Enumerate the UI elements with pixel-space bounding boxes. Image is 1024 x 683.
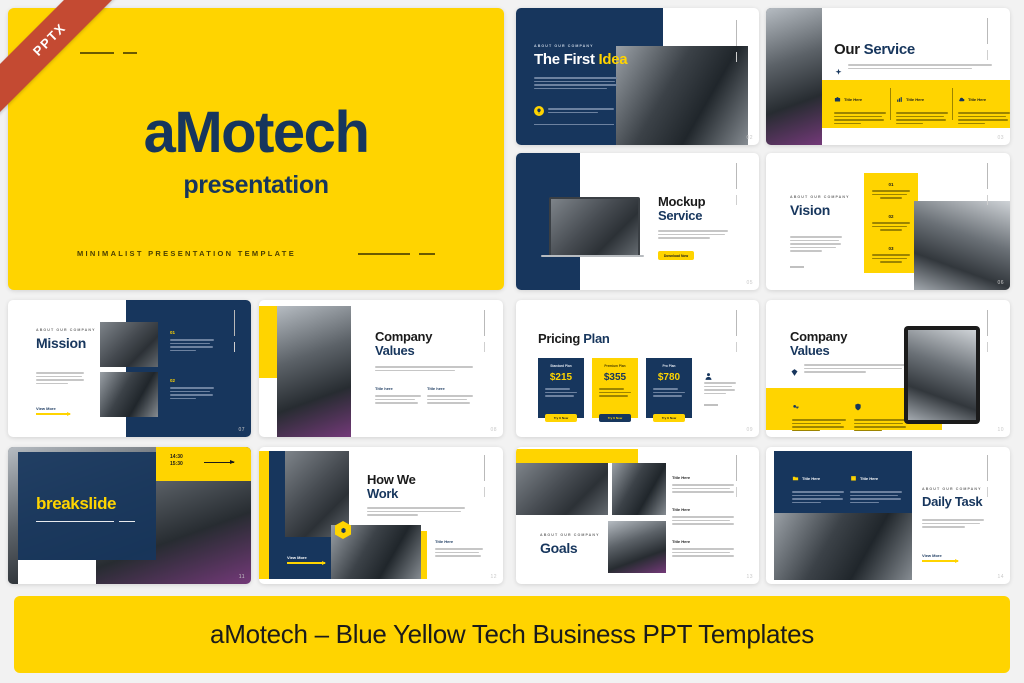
- view-more-label: View More: [922, 553, 958, 558]
- values2-intro-text: [804, 364, 908, 373]
- view-more-label: View More: [287, 555, 325, 560]
- page-number: 07: [238, 427, 245, 433]
- values1-title: Company Values: [375, 330, 432, 358]
- plan-cta-button[interactable]: Try It Now: [545, 414, 577, 422]
- values1-body-text: [375, 366, 473, 371]
- mission-item-2: 02: [170, 378, 214, 399]
- plan-name: Standard Plan: [538, 364, 584, 368]
- page-number: 10: [997, 427, 1004, 433]
- decor-vline: [736, 310, 737, 336]
- page-number: 13: [746, 574, 753, 580]
- first-idea-photo: [616, 46, 748, 145]
- dash-long: [358, 253, 410, 255]
- mission-item-1: 01: [170, 330, 214, 351]
- decor-vline: [987, 310, 988, 336]
- lightbulb-icon: [534, 106, 544, 116]
- plan-price: $355: [592, 372, 638, 383]
- page-number: 14: [997, 574, 1004, 580]
- dash-short: [123, 52, 137, 54]
- daily-photo: [774, 513, 912, 580]
- hww-title: How We Work: [367, 473, 416, 501]
- slide-company-values-2[interactable]: Company Values: [766, 300, 1010, 437]
- page-number: 08: [490, 427, 497, 433]
- slide-how-we-work[interactable]: How We Work Title Here View More 12: [259, 447, 503, 584]
- breakslide-white-block: [18, 560, 96, 584]
- title-plain: Our: [834, 41, 864, 58]
- title-line-2: Values: [790, 344, 847, 358]
- decor-vline-short: [234, 342, 235, 352]
- title-line-1: Company: [790, 330, 847, 344]
- decor-vline: [987, 163, 988, 189]
- values1-column-2: Title here: [427, 386, 473, 404]
- item-label: Title Here: [672, 475, 734, 480]
- vision-numbered-card: 01 02 03: [864, 173, 918, 273]
- cloud-icon: [958, 90, 965, 108]
- service-column-label: Title Here: [844, 97, 862, 102]
- decor-vline-short: [987, 50, 988, 60]
- values1-photo: [277, 306, 351, 437]
- hero-dash-decoration: [80, 52, 137, 54]
- plan-cta-button[interactable]: Try It Now: [599, 414, 631, 422]
- key-icon: [792, 398, 800, 415]
- hww-yellow-edge: [259, 451, 269, 579]
- goals-item-2: Title Here: [672, 507, 734, 525]
- slide-company-values-1[interactable]: Company Values Title here Title here 08: [259, 300, 503, 437]
- service-column-1: Title Here: [834, 90, 886, 124]
- values1-column-1: Title here: [375, 386, 421, 404]
- title-line-1: Company: [375, 330, 432, 344]
- decor-vline: [987, 455, 988, 481]
- slide-goals[interactable]: ABOUT OUR COMPANY Goals Title Here Title…: [516, 447, 759, 584]
- vision-eyebrow: ABOUT OUR COMPANY: [790, 195, 850, 199]
- decor-vline-short: [484, 487, 485, 497]
- breakslide-time-band: 14:30 15:30: [156, 447, 251, 481]
- hero-tagline: MINIMALIST PRESENTATION TEMPLATE: [77, 249, 296, 258]
- page-number: 03: [997, 135, 1004, 141]
- decor-vline-short: [736, 52, 737, 62]
- daily-title: Daily Task: [922, 495, 982, 509]
- plan-name: Pro Plan: [646, 364, 692, 368]
- card-label: Title Here: [802, 476, 820, 481]
- pricing-card-standard[interactable]: Standard Plan $215 Try It Now: [538, 358, 584, 418]
- page-number: 12: [490, 574, 497, 580]
- briefcase-icon: [834, 90, 841, 108]
- our-service-photo: [766, 8, 822, 145]
- break-arrow-icon: [204, 462, 234, 463]
- pricing-card-premium[interactable]: Premium Plan $355 Try It Now: [592, 358, 638, 418]
- values2-tablet-frame: [904, 326, 980, 424]
- shield-icon: [854, 398, 862, 415]
- hww-view-more-link[interactable]: View More: [287, 555, 325, 564]
- mockup-arrow: [540, 271, 572, 273]
- decor-vline: [484, 455, 485, 481]
- service-column-label: Title Here: [968, 97, 986, 102]
- mission-view-more-link[interactable]: View More: [36, 406, 70, 415]
- title-line-1: How We: [367, 473, 416, 487]
- mockup-laptop-base: [541, 255, 644, 257]
- title-line-2: Service: [658, 209, 705, 223]
- values2-item-2: [854, 398, 908, 431]
- template-preview-page: aMotech presentation MINIMALIST PRESENTA…: [0, 0, 1024, 683]
- title-line-1: Mockup: [658, 195, 705, 209]
- download-now-button[interactable]: Download Now: [658, 251, 694, 260]
- slide-first-idea[interactable]: ABOUT OUR COMPANY The First Idea 02: [516, 8, 759, 145]
- service-column-3: Title Here: [958, 90, 1010, 124]
- mission-body-text: [36, 372, 84, 384]
- decor-vline-short: [987, 342, 988, 352]
- hero-tagline-dashes: [358, 253, 435, 255]
- page-number: 11: [239, 574, 245, 580]
- goals-title: Goals: [540, 541, 577, 556]
- title-accent: Service: [864, 41, 915, 58]
- hww-body-text: [367, 507, 465, 516]
- values2-title: Company Values: [790, 330, 847, 358]
- title-accent: Idea: [599, 51, 628, 68]
- slide-our-service[interactable]: Our Service Title Here T: [766, 8, 1010, 145]
- goals-eyebrow: ABOUT OUR COMPANY: [540, 533, 600, 537]
- title-accent: Plan: [583, 331, 609, 346]
- slide-mission[interactable]: ABOUT OUR COMPANY Mission View More 01 0…: [8, 300, 251, 437]
- vision-item-1: 01: [864, 182, 918, 199]
- item-number: 01: [170, 330, 214, 335]
- daily-eyebrow: ABOUT OUR COMPANY: [922, 487, 982, 491]
- card-label: Title Here: [860, 476, 878, 481]
- vision-item-2: 02: [864, 214, 918, 231]
- chart-icon: [896, 90, 903, 108]
- slide-pricing-plan[interactable]: Pricing Plan Standard Plan $215 Try It N…: [516, 300, 759, 437]
- breakslide-title: breakslide: [36, 494, 116, 514]
- mockup-title: Mockup Service: [658, 195, 705, 223]
- page-number: 06: [997, 280, 1004, 286]
- decor-vline-short: [736, 487, 737, 497]
- slide-daily-task[interactable]: Title Here Title Here ABOUT OUR COMPANY …: [766, 447, 1010, 584]
- our-service-feature-band: Title Here Title Here: [822, 80, 1010, 128]
- goals-photo-2: [612, 463, 666, 515]
- page-number: 09: [746, 427, 753, 433]
- decor-vline-short: [736, 195, 737, 205]
- item-number: 02: [864, 214, 918, 219]
- break-time-start: 14:30: [170, 454, 183, 461]
- vision-rule: [790, 266, 804, 268]
- product-title-banner: aMotech – Blue Yellow Tech Business PPT …: [14, 596, 1010, 673]
- decor-vline-short: [484, 342, 485, 352]
- service-column-label: Title Here: [906, 97, 924, 102]
- mission-photo-2: [100, 372, 158, 417]
- mission-title: Mission: [36, 336, 86, 351]
- our-service-intro-text: [848, 64, 992, 69]
- mission-eyebrow: ABOUT OUR COMPANY: [36, 328, 96, 332]
- first-idea-eyebrow: ABOUT OUR COMPANY: [534, 44, 594, 48]
- decor-vline-short: [987, 487, 988, 497]
- pricing-side-text: [704, 382, 736, 394]
- folder-icon: [792, 469, 799, 487]
- item-label: Title Here: [672, 507, 734, 512]
- values2-item-1: [792, 398, 846, 431]
- first-idea-title: The First Idea: [534, 52, 627, 68]
- decor-vline: [987, 18, 988, 44]
- hero-brand-title: aMotech: [8, 104, 504, 162]
- item-label: Title Here: [672, 539, 734, 544]
- pricing-rule: [704, 404, 718, 406]
- daily-body-text: [922, 519, 984, 528]
- slide-title-hero[interactable]: aMotech presentation MINIMALIST PRESENTA…: [8, 8, 504, 290]
- decor-vline: [736, 20, 737, 46]
- hero-subtitle: presentation: [8, 171, 504, 200]
- mockup-laptop-photo: [549, 197, 640, 257]
- vision-item-3: 03: [864, 246, 918, 263]
- hero-tagline-row: MINIMALIST PRESENTATION TEMPLATE: [8, 249, 504, 258]
- decor-vline: [234, 310, 235, 336]
- slide-vision[interactable]: ABOUT OUR COMPANY Vision 01 02 03: [766, 153, 1010, 290]
- values2-photo: [908, 330, 976, 420]
- page-number: 05: [746, 280, 753, 286]
- breakslide-rule: [36, 521, 135, 522]
- dash-long: [80, 52, 114, 54]
- side-label: Title Here: [435, 539, 483, 544]
- vision-title: Vision: [790, 203, 830, 218]
- vision-photo: [914, 201, 1010, 290]
- goals-item-3: Title Here: [672, 539, 734, 557]
- plan-price: $215: [538, 372, 584, 383]
- title-plain: Pricing: [538, 331, 583, 346]
- box-icon: [850, 469, 857, 487]
- plan-name: Premium Plan: [592, 364, 638, 368]
- column-label: Title here: [375, 386, 421, 391]
- item-number: 02: [170, 378, 214, 383]
- pricing-title: Pricing Plan: [538, 332, 610, 346]
- item-number: 03: [864, 246, 918, 251]
- goals-yellow-bar: [516, 449, 638, 463]
- banner-text: aMotech – Blue Yellow Tech Business PPT …: [210, 619, 814, 650]
- decor-vline-short: [987, 195, 988, 205]
- daily-card-1: Title Here: [792, 469, 844, 503]
- mission-photo-1: [100, 322, 158, 367]
- dash-short: [419, 253, 435, 255]
- plan-cta-button[interactable]: Try It Now: [653, 414, 685, 422]
- plan-price: $780: [646, 372, 692, 383]
- goals-photo-3: [608, 521, 666, 573]
- mockup-body-text: [658, 230, 728, 239]
- decor-vline: [736, 455, 737, 481]
- break-time-end: 15:30: [170, 461, 183, 468]
- decor-vline: [736, 163, 737, 189]
- vision-body-text: [790, 236, 842, 252]
- our-service-title: Our Service: [834, 42, 915, 58]
- title-line-2: Values: [375, 344, 432, 358]
- view-more-label: View More: [36, 406, 70, 411]
- page-number: 02: [746, 135, 753, 141]
- slide-mockup-service[interactable]: Mockup Service Download Now 05: [516, 153, 759, 290]
- decor-vline: [484, 310, 485, 336]
- hww-side-item: Title Here: [435, 539, 483, 557]
- item-number: 01: [864, 182, 918, 187]
- goals-photo-1: [516, 463, 608, 515]
- first-idea-body-text: [534, 77, 617, 89]
- goals-item-1: Title Here: [672, 475, 734, 493]
- daily-card-2: Title Here: [850, 469, 902, 503]
- daily-view-more-link[interactable]: View More: [922, 553, 958, 562]
- slide-breakslide[interactable]: 14:30 15:30 breakslide 11: [8, 447, 251, 584]
- service-column-2: Title Here: [896, 90, 948, 124]
- first-idea-rule: [534, 124, 614, 125]
- decor-vline-short: [736, 342, 737, 352]
- pricing-card-pro[interactable]: Pro Plan $780 Try It Now: [646, 358, 692, 418]
- title-line-2: Work: [367, 487, 416, 501]
- title-plain: The First: [534, 51, 599, 68]
- column-label: Title here: [427, 386, 473, 391]
- diamond-icon: [790, 364, 799, 382]
- first-idea-callout-text: [548, 108, 614, 113]
